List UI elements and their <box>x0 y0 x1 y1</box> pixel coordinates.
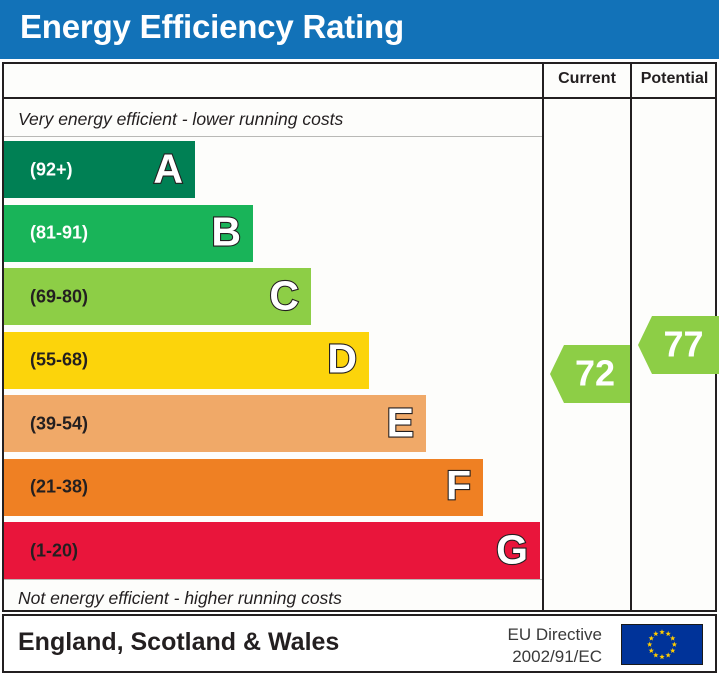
band-range-c: (69-80) <box>30 286 88 307</box>
caption-very-efficient: Very energy efficient - lower running co… <box>18 109 343 130</box>
eu-star <box>659 629 664 634</box>
eu-star <box>670 648 675 653</box>
band-letter-d: D <box>327 339 357 380</box>
eu-flag-icon <box>621 624 703 665</box>
column-header-current: Current <box>544 70 630 88</box>
eu-star <box>649 648 654 653</box>
caption-not-efficient: Not energy efficient - higher running co… <box>18 588 342 609</box>
band-letter-a: A <box>153 148 183 189</box>
band-e: (39-54)E <box>4 395 426 452</box>
footer-directive: EU Directive 2002/91/EC <box>462 624 602 669</box>
eu-star <box>672 642 677 647</box>
energy-efficiency-certificate: Energy Efficiency Rating Current Potenti… <box>0 0 719 675</box>
footer-directive-line1: EU Directive <box>462 624 602 646</box>
band-f: (21-38)F <box>4 459 483 516</box>
rating-table: Current Potential Very energy efficient … <box>2 62 717 612</box>
band-c: (69-80)C <box>4 268 311 325</box>
footer-region-label: England, Scotland & Wales <box>18 628 339 657</box>
band-range-a: (92+) <box>30 159 73 180</box>
band-letter-g: G <box>496 529 528 570</box>
page-title: Energy Efficiency Rating <box>20 8 404 46</box>
band-letter-e: E <box>387 402 414 443</box>
band-d: (55-68)D <box>4 332 369 389</box>
footer-directive-line2: 2002/91/EC <box>462 646 602 668</box>
band-letter-c: C <box>269 275 299 316</box>
eu-star <box>670 635 675 640</box>
caption-rule-top <box>4 136 542 137</box>
eu-star <box>653 631 658 636</box>
band-range-e: (39-54) <box>30 413 88 434</box>
band-range-d: (55-68) <box>30 350 88 371</box>
eu-star <box>665 631 670 636</box>
band-g: (1-20)G <box>4 522 540 579</box>
title-bar: Energy Efficiency Rating <box>0 0 719 59</box>
band-letter-f: F <box>446 466 471 507</box>
band-b: (81-91)B <box>4 205 253 262</box>
eu-star <box>649 635 654 640</box>
eu-star <box>665 652 670 657</box>
caption-rule-bottom <box>4 579 542 580</box>
band-range-b: (81-91) <box>30 223 88 244</box>
band-letter-b: B <box>211 212 241 253</box>
potential-rating-arrow: 77 <box>638 316 719 374</box>
potential-rating-value: 77 <box>652 326 715 362</box>
eu-star <box>653 652 658 657</box>
column-divider-potential <box>630 64 632 610</box>
eu-star <box>647 642 652 647</box>
band-range-g: (1-20) <box>30 540 78 561</box>
current-rating-arrow: 72 <box>550 345 630 403</box>
band-a: (92+)A <box>4 141 195 198</box>
eu-flag-stars <box>622 625 702 664</box>
current-rating-value: 72 <box>564 355 626 391</box>
eu-star <box>659 654 664 659</box>
band-range-f: (21-38) <box>30 477 88 498</box>
column-header-potential: Potential <box>632 70 717 88</box>
column-divider-current <box>542 64 544 610</box>
footer-bar: England, Scotland & Wales EU Directive 2… <box>2 614 717 673</box>
